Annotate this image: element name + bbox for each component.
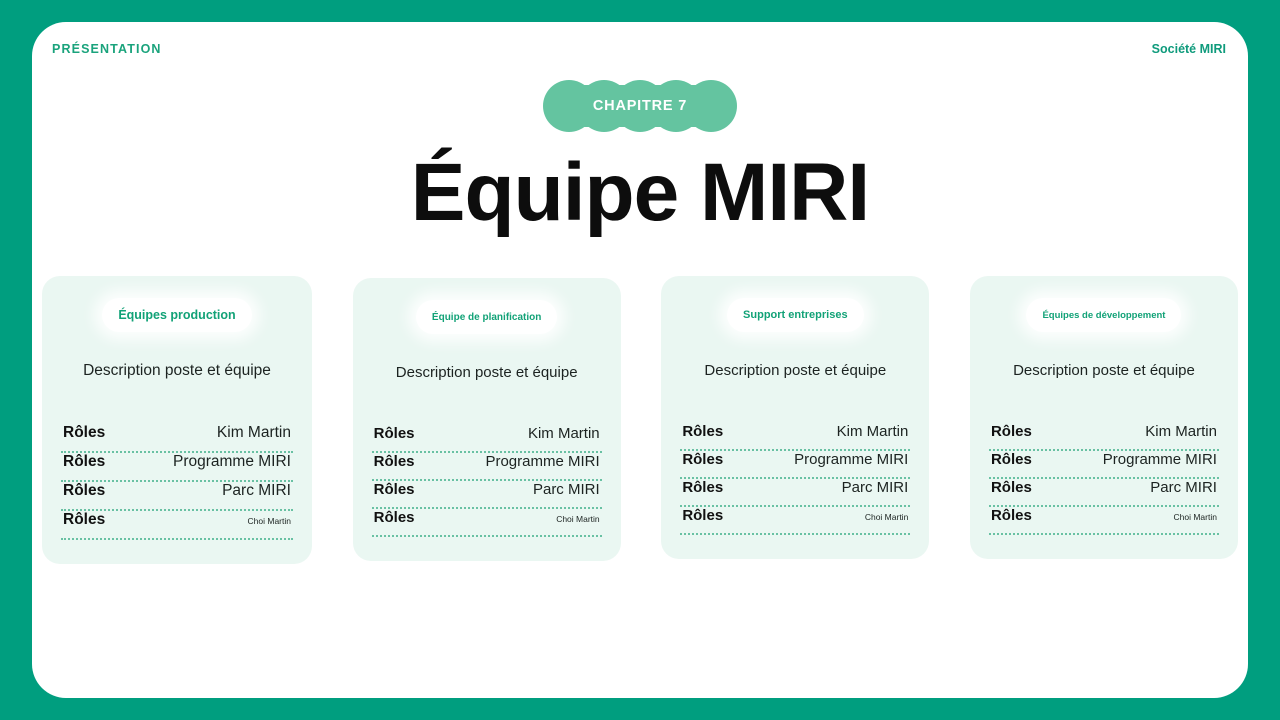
team-card[interactable]: Équipes production Description poste et …	[42, 276, 312, 564]
role-label: Rôles	[991, 451, 1032, 468]
row-separator	[680, 477, 910, 479]
header-left-label: PRÉSENTATION	[52, 42, 162, 56]
role-label: Rôles	[63, 424, 105, 442]
role-value: Choi Martin	[1174, 512, 1217, 522]
role-label: Rôles	[682, 507, 723, 524]
role-row: Rôles Choi Martin	[61, 511, 293, 538]
slide-panel: PRÉSENTATION Société MIRI CHAPITRE 7 Équ…	[32, 22, 1248, 698]
row-separator	[61, 480, 293, 482]
role-row: Rôles Parc MIRI	[680, 479, 910, 505]
role-value: Programme MIRI	[1103, 451, 1217, 468]
role-label: Rôles	[991, 479, 1032, 496]
role-label: Rôles	[63, 511, 105, 529]
row-separator	[61, 538, 293, 540]
role-row: Rôles Choi Martin	[989, 507, 1219, 533]
team-cards-row: Équipes production Description poste et …	[42, 276, 1238, 564]
role-value: Choi Martin	[248, 516, 291, 526]
row-separator	[989, 533, 1219, 535]
role-value: Kim Martin	[217, 424, 291, 442]
row-separator	[989, 449, 1219, 451]
chapter-badge: CHAPITRE 7	[543, 80, 737, 132]
chapter-badge-label: CHAPITRE 7	[543, 80, 737, 132]
row-separator	[372, 479, 602, 481]
role-row: Rôles Choi Martin	[372, 509, 602, 535]
role-row: Rôles Parc MIRI	[61, 482, 293, 509]
role-row: Rôles Kim Martin	[61, 424, 293, 451]
card-description: Description poste et équipe	[680, 362, 910, 379]
role-label: Rôles	[374, 509, 415, 526]
role-row: Rôles Programme MIRI	[680, 451, 910, 477]
role-row: Rôles Kim Martin	[680, 423, 910, 449]
row-separator	[372, 507, 602, 509]
card-roles-list: Rôles Kim Martin Rôles Programme MIRI Rô…	[680, 423, 910, 535]
role-row: Rôles Parc MIRI	[989, 479, 1219, 505]
card-description: Description poste et équipe	[61, 362, 293, 380]
role-value: Choi Martin	[556, 514, 599, 524]
card-badge-row: Équipe de planification	[372, 300, 602, 334]
row-separator	[989, 477, 1219, 479]
page-title: Équipe MIRI	[32, 150, 1248, 236]
row-separator	[680, 505, 910, 507]
role-value: Parc MIRI	[842, 479, 909, 496]
role-label: Rôles	[991, 423, 1032, 440]
card-badge: Support entreprises	[727, 298, 864, 332]
role-row: Rôles Programme MIRI	[372, 453, 602, 479]
row-separator	[989, 505, 1219, 507]
card-description: Description poste et équipe	[989, 362, 1219, 379]
role-row: Rôles Programme MIRI	[61, 453, 293, 480]
team-card[interactable]: Équipes de développement Description pos…	[970, 276, 1238, 559]
role-label: Rôles	[374, 425, 415, 442]
card-badge-row: Support entreprises	[680, 298, 910, 332]
role-value: Programme MIRI	[794, 451, 908, 468]
card-badge: Équipes production	[102, 298, 251, 332]
chapter-badge-wrap: CHAPITRE 7	[32, 80, 1248, 136]
role-value: Kim Martin	[528, 425, 600, 442]
card-roles-list: Rôles Kim Martin Rôles Programme MIRI Rô…	[61, 424, 293, 540]
role-label: Rôles	[63, 453, 105, 471]
role-value: Programme MIRI	[173, 453, 291, 471]
slide-root: PRÉSENTATION Société MIRI CHAPITRE 7 Équ…	[0, 0, 1280, 720]
card-badge-row: Équipes production	[61, 298, 293, 332]
card-description: Description poste et équipe	[372, 364, 602, 381]
role-label: Rôles	[63, 482, 105, 500]
card-badge: Équipes de développement	[1026, 298, 1181, 332]
role-value: Parc MIRI	[533, 481, 600, 498]
role-row: Rôles Programme MIRI	[989, 451, 1219, 477]
role-label: Rôles	[682, 479, 723, 496]
team-card[interactable]: Équipe de planification Description post…	[353, 278, 621, 561]
role-value: Parc MIRI	[222, 482, 291, 500]
role-value: Programme MIRI	[485, 453, 599, 470]
role-label: Rôles	[682, 423, 723, 440]
role-row: Rôles Parc MIRI	[372, 481, 602, 507]
row-separator	[61, 509, 293, 511]
header-right-label: Société MIRI	[1152, 42, 1226, 56]
card-badge: Équipe de planification	[416, 300, 557, 334]
role-label: Rôles	[682, 451, 723, 468]
role-row: Rôles Kim Martin	[372, 425, 602, 451]
card-badge-row: Équipes de développement	[989, 298, 1219, 332]
team-card[interactable]: Support entreprises Description poste et…	[661, 276, 929, 559]
row-separator	[372, 451, 602, 453]
role-label: Rôles	[991, 507, 1032, 524]
role-value: Kim Martin	[1145, 423, 1217, 440]
card-roles-list: Rôles Kim Martin Rôles Programme MIRI Rô…	[372, 425, 602, 537]
role-value: Choi Martin	[865, 512, 908, 522]
role-row: Rôles Choi Martin	[680, 507, 910, 533]
role-label: Rôles	[374, 481, 415, 498]
row-separator	[61, 451, 293, 453]
role-value: Kim Martin	[837, 423, 909, 440]
card-roles-list: Rôles Kim Martin Rôles Programme MIRI Rô…	[989, 423, 1219, 535]
row-separator	[372, 535, 602, 537]
role-row: Rôles Kim Martin	[989, 423, 1219, 449]
role-label: Rôles	[374, 453, 415, 470]
role-value: Parc MIRI	[1150, 479, 1217, 496]
row-separator	[680, 449, 910, 451]
row-separator	[680, 533, 910, 535]
